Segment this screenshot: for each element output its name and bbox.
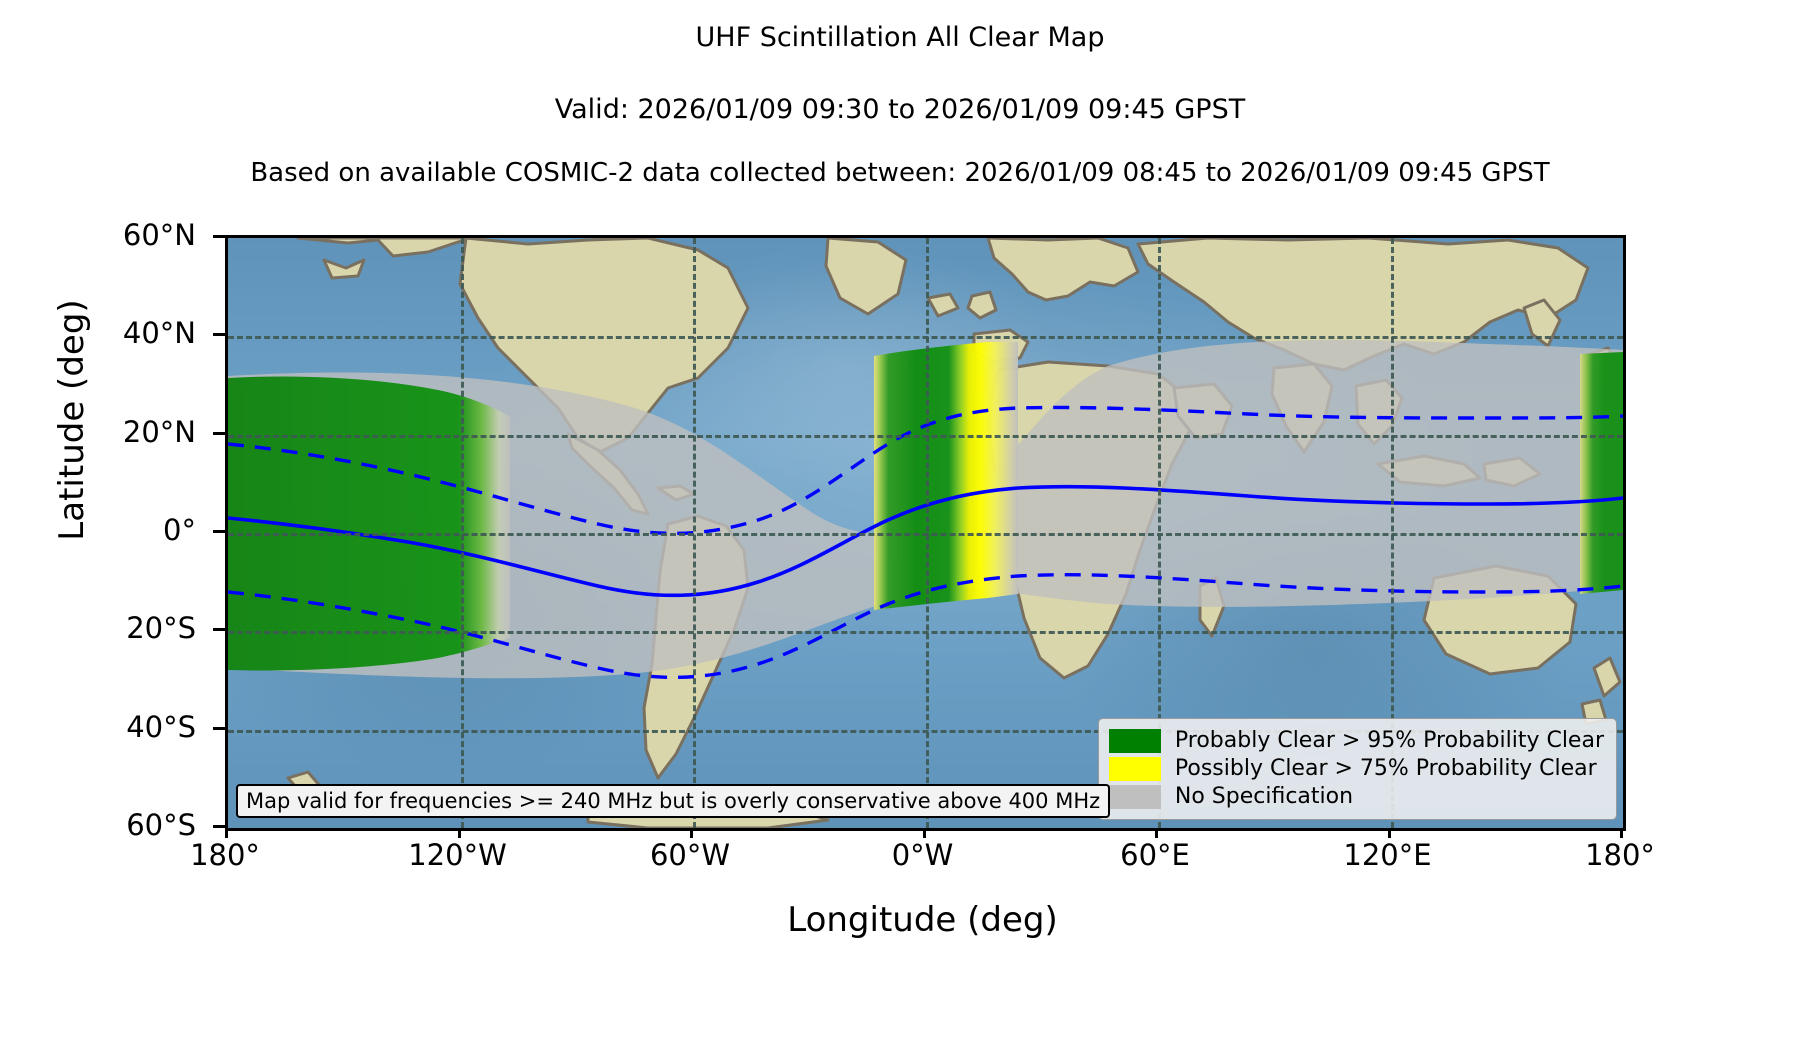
- x-tick-label: 180°: [190, 838, 260, 872]
- frequency-note: Map valid for frequencies >= 240 MHz but…: [236, 784, 1110, 818]
- legend-item[interactable]: No Specification: [1109, 783, 1604, 811]
- y-tick-mark: [213, 333, 225, 336]
- legend-color-swatch: [1109, 757, 1161, 781]
- y-tick-label: 60°N: [123, 218, 196, 252]
- y-tick-mark: [213, 235, 225, 238]
- legend-item[interactable]: Possibly Clear > 75% Probability Clear: [1109, 755, 1604, 783]
- y-tick-label: 60°S: [126, 808, 196, 842]
- legend-item-label: Possibly Clear > 75% Probability Clear: [1175, 755, 1597, 783]
- x-tick-label: 0°W: [892, 838, 954, 872]
- x-tick-label: 60°E: [1120, 838, 1190, 872]
- y-axis-label: Latitude (deg): [52, 230, 92, 610]
- longitude-gridline: [461, 238, 464, 828]
- data-source-subtitle: Based on available COSMIC-2 data collect…: [0, 158, 1800, 188]
- x-tick-label: 60°W: [650, 838, 730, 872]
- map-plot-area[interactable]: Probably Clear > 95% Probability ClearPo…: [225, 235, 1626, 831]
- x-axis-label: Longitude (deg): [225, 900, 1620, 940]
- y-tick-label: 0°: [163, 513, 196, 547]
- longitude-gridline: [926, 238, 929, 828]
- x-tick-label: 180°: [1585, 838, 1655, 872]
- legend-item[interactable]: Probably Clear > 95% Probability Clear: [1109, 727, 1604, 755]
- validity-subtitle: Valid: 2026/01/09 09:30 to 2026/01/09 09…: [0, 94, 1800, 125]
- y-tick-mark: [213, 530, 225, 533]
- y-tick-mark: [213, 727, 225, 730]
- y-tick-label: 20°N: [123, 415, 196, 449]
- y-tick-label: 40°N: [123, 316, 196, 350]
- y-tick-mark: [213, 825, 225, 828]
- y-tick-mark: [213, 628, 225, 631]
- legend-item-label: No Specification: [1175, 783, 1353, 811]
- y-tick-label: 20°S: [126, 611, 196, 645]
- x-tick-label: 120°E: [1343, 838, 1431, 872]
- legend-item-label: Probably Clear > 95% Probability Clear: [1175, 727, 1604, 755]
- legend-color-swatch: [1109, 785, 1161, 809]
- legend-color-swatch: [1109, 729, 1161, 753]
- y-tick-label: 40°S: [126, 710, 196, 744]
- map-legend[interactable]: Probably Clear > 95% Probability ClearPo…: [1098, 718, 1617, 820]
- longitude-gridline: [693, 238, 696, 828]
- x-tick-label: 120°W: [408, 838, 507, 872]
- page-title: UHF Scintillation All Clear Map: [0, 22, 1800, 53]
- y-tick-mark: [213, 432, 225, 435]
